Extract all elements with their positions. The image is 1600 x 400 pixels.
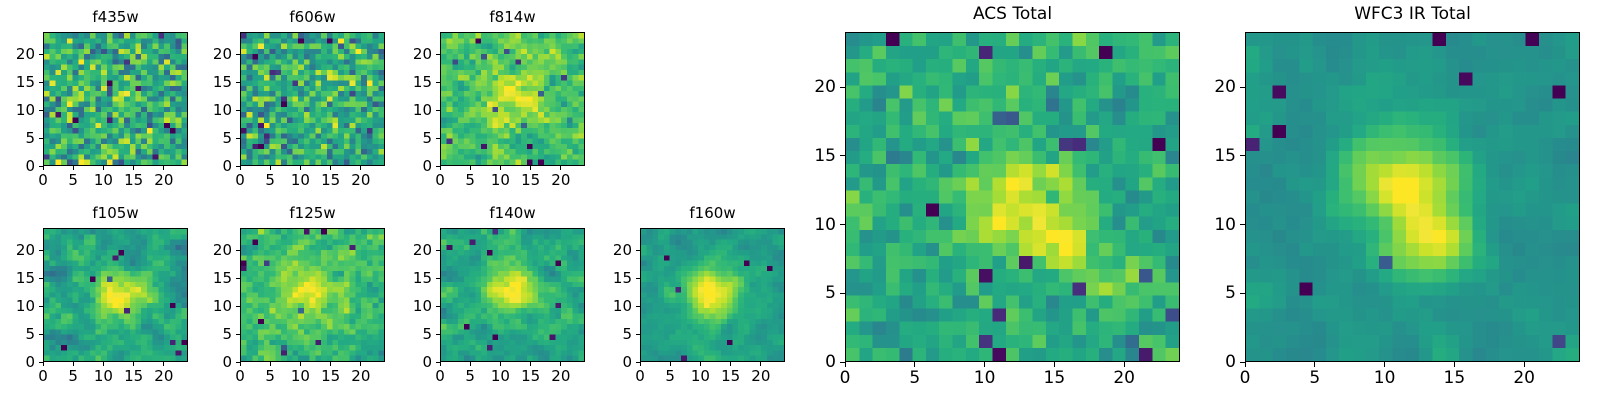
x-tick-wfc3-ir-total-0 xyxy=(1245,362,1246,367)
y-ticklabel-wfc3-ir-total-2: 10 xyxy=(1192,217,1236,234)
x-tick-wfc3-ir-total-4 xyxy=(1524,362,1525,367)
x-ticklabel-f814w-3: 15 xyxy=(511,173,551,188)
y-tick-f606w-2 xyxy=(236,110,240,111)
y-ticklabel-f125w-2: 10 xyxy=(188,299,232,314)
y-tick-f814w-3 xyxy=(436,82,440,83)
x-tick-f435w-4 xyxy=(163,166,164,170)
y-ticklabel-acs-total-1: 5 xyxy=(792,285,836,302)
panel-wfc3-ir-total: WFC3 IR Total0510152005101520 xyxy=(0,0,1600,400)
y-ticklabel-f140w-3: 15 xyxy=(388,271,432,286)
y-tick-wfc3-ir-total-1 xyxy=(1240,293,1245,294)
x-ticklabel-f606w-3: 15 xyxy=(311,173,351,188)
y-ticklabel-f105w-2: 10 xyxy=(0,299,35,314)
y-tick-f105w-1 xyxy=(39,334,43,335)
x-tick-f140w-4 xyxy=(560,362,561,366)
y-ticklabel-wfc3-ir-total-0: 0 xyxy=(1192,354,1236,371)
x-tick-f125w-3 xyxy=(330,362,331,366)
x-tick-wfc3-ir-total-1 xyxy=(1314,362,1315,367)
y-tick-f814w-1 xyxy=(436,138,440,139)
panel-f160w: f160w0510152005101520 xyxy=(0,0,1600,400)
heatmap-f160w xyxy=(640,228,785,362)
y-tick-f125w-2 xyxy=(236,306,240,307)
y-ticklabel-f160w-4: 20 xyxy=(588,243,632,258)
y-ticklabel-f140w-0: 0 xyxy=(388,355,432,370)
panel-title-f125w: f125w xyxy=(240,206,385,221)
y-tick-acs-total-2 xyxy=(840,224,845,225)
x-tick-f140w-0 xyxy=(440,362,441,366)
y-tick-f435w-2 xyxy=(39,110,43,111)
x-ticklabel-f606w-0: 0 xyxy=(220,173,260,188)
y-tick-f105w-2 xyxy=(39,306,43,307)
heatmap-wfc3-ir-total xyxy=(1245,32,1580,362)
y-tick-f160w-4 xyxy=(636,250,640,251)
x-ticklabel-acs-total-2: 10 xyxy=(965,370,1005,387)
y-tick-acs-total-0 xyxy=(840,362,845,363)
y-ticklabel-f105w-3: 15 xyxy=(0,271,35,286)
x-ticklabel-acs-total-1: 5 xyxy=(895,370,935,387)
y-ticklabel-f140w-1: 5 xyxy=(388,327,432,342)
panel-title-acs-total: ACS Total xyxy=(845,6,1180,23)
x-tick-acs-total-1 xyxy=(914,362,915,367)
y-ticklabel-f125w-0: 0 xyxy=(188,355,232,370)
x-ticklabel-f160w-3: 15 xyxy=(711,369,751,384)
y-ticklabel-acs-total-3: 15 xyxy=(792,148,836,165)
x-ticklabel-wfc3-ir-total-1: 5 xyxy=(1295,370,1335,387)
heatmap-f125w xyxy=(240,228,385,362)
y-ticklabel-wfc3-ir-total-1: 5 xyxy=(1192,285,1236,302)
y-tick-acs-total-4 xyxy=(840,87,845,88)
heatmap-image-wfc3-ir-total xyxy=(1246,33,1579,361)
heatmap-image-f105w xyxy=(44,229,187,361)
y-tick-f125w-1 xyxy=(236,334,240,335)
y-ticklabel-f125w-3: 15 xyxy=(188,271,232,286)
y-tick-f105w-0 xyxy=(39,362,43,363)
x-ticklabel-f606w-4: 20 xyxy=(341,173,381,188)
x-tick-f606w-0 xyxy=(240,166,241,170)
x-ticklabel-f105w-4: 20 xyxy=(144,369,184,384)
x-ticklabel-f105w-2: 10 xyxy=(83,369,123,384)
x-tick-f606w-2 xyxy=(300,166,301,170)
x-ticklabel-wfc3-ir-total-0: 0 xyxy=(1225,370,1265,387)
y-tick-wfc3-ir-total-4 xyxy=(1240,87,1245,88)
y-ticklabel-acs-total-2: 10 xyxy=(792,217,836,234)
x-tick-f105w-4 xyxy=(163,362,164,366)
panel-title-f606w: f606w xyxy=(240,10,385,25)
x-ticklabel-f140w-1: 5 xyxy=(450,369,490,384)
y-ticklabel-acs-total-0: 0 xyxy=(792,354,836,371)
x-ticklabel-acs-total-0: 0 xyxy=(825,370,865,387)
y-ticklabel-f606w-2: 10 xyxy=(188,103,232,118)
y-tick-wfc3-ir-total-0 xyxy=(1240,362,1245,363)
heatmap-image-f814w xyxy=(441,33,584,165)
x-tick-f125w-2 xyxy=(300,362,301,366)
y-ticklabel-wfc3-ir-total-4: 20 xyxy=(1192,79,1236,96)
y-ticklabel-f125w-4: 20 xyxy=(188,243,232,258)
x-tick-f814w-2 xyxy=(500,166,501,170)
x-tick-f435w-0 xyxy=(43,166,44,170)
y-ticklabel-f125w-1: 5 xyxy=(188,327,232,342)
x-tick-f814w-1 xyxy=(470,166,471,170)
y-ticklabel-f105w-4: 20 xyxy=(0,243,35,258)
x-ticklabel-f814w-2: 10 xyxy=(480,173,520,188)
x-tick-f105w-1 xyxy=(73,362,74,366)
panel-f606w: f606w0510152005101520 xyxy=(0,0,1600,400)
x-ticklabel-wfc3-ir-total-4: 20 xyxy=(1504,370,1544,387)
x-ticklabel-f140w-0: 0 xyxy=(420,369,460,384)
y-tick-wfc3-ir-total-3 xyxy=(1240,155,1245,156)
y-ticklabel-f606w-4: 20 xyxy=(188,47,232,62)
x-ticklabel-f606w-2: 10 xyxy=(280,173,320,188)
x-tick-wfc3-ir-total-2 xyxy=(1384,362,1385,367)
y-ticklabel-f160w-1: 5 xyxy=(588,327,632,342)
x-ticklabel-f814w-4: 20 xyxy=(541,173,581,188)
heatmap-f435w xyxy=(43,32,188,166)
panel-title-f814w: f814w xyxy=(440,10,585,25)
heatmap-f140w xyxy=(440,228,585,362)
y-ticklabel-f606w-3: 15 xyxy=(188,75,232,90)
x-tick-f814w-3 xyxy=(530,166,531,170)
heatmap-image-f606w xyxy=(241,33,384,165)
heatmap-image-acs-total xyxy=(846,33,1179,361)
y-tick-f435w-1 xyxy=(39,138,43,139)
x-tick-f105w-2 xyxy=(103,362,104,366)
y-ticklabel-f140w-2: 10 xyxy=(388,299,432,314)
x-tick-f814w-4 xyxy=(560,166,561,170)
x-ticklabel-f105w-3: 15 xyxy=(114,369,154,384)
y-ticklabel-f105w-1: 5 xyxy=(0,327,35,342)
y-tick-f606w-4 xyxy=(236,54,240,55)
x-tick-f105w-3 xyxy=(133,362,134,366)
x-tick-f140w-3 xyxy=(530,362,531,366)
heatmap-image-f140w xyxy=(441,229,584,361)
x-tick-f606w-4 xyxy=(360,166,361,170)
x-ticklabel-f125w-4: 20 xyxy=(341,369,381,384)
x-ticklabel-f160w-2: 10 xyxy=(680,369,720,384)
x-ticklabel-wfc3-ir-total-2: 10 xyxy=(1365,370,1405,387)
x-tick-f125w-4 xyxy=(360,362,361,366)
x-tick-f160w-2 xyxy=(700,362,701,366)
y-ticklabel-f814w-0: 0 xyxy=(388,159,432,174)
x-ticklabel-f814w-0: 0 xyxy=(420,173,460,188)
y-tick-f606w-3 xyxy=(236,82,240,83)
x-ticklabel-f125w-3: 15 xyxy=(311,369,351,384)
x-ticklabel-f814w-1: 5 xyxy=(450,173,490,188)
x-ticklabel-f435w-4: 20 xyxy=(144,173,184,188)
y-tick-f125w-0 xyxy=(236,362,240,363)
y-tick-f140w-3 xyxy=(436,278,440,279)
y-tick-f160w-0 xyxy=(636,362,640,363)
y-ticklabel-f140w-4: 20 xyxy=(388,243,432,258)
x-ticklabel-f125w-2: 10 xyxy=(280,369,320,384)
x-ticklabel-f435w-2: 10 xyxy=(83,173,123,188)
y-tick-wfc3-ir-total-2 xyxy=(1240,224,1245,225)
y-tick-f140w-0 xyxy=(436,362,440,363)
y-tick-f105w-4 xyxy=(39,250,43,251)
y-ticklabel-f814w-1: 5 xyxy=(388,131,432,146)
y-tick-f435w-4 xyxy=(39,54,43,55)
x-ticklabel-wfc3-ir-total-3: 15 xyxy=(1434,370,1474,387)
x-ticklabel-f160w-0: 0 xyxy=(620,369,660,384)
x-ticklabel-f140w-3: 15 xyxy=(511,369,551,384)
y-tick-f140w-2 xyxy=(436,306,440,307)
x-ticklabel-f140w-2: 10 xyxy=(480,369,520,384)
x-ticklabel-f606w-1: 5 xyxy=(250,173,290,188)
x-ticklabel-f435w-1: 5 xyxy=(53,173,93,188)
y-ticklabel-acs-total-4: 20 xyxy=(792,79,836,96)
panel-title-f105w: f105w xyxy=(43,206,188,221)
y-tick-f435w-3 xyxy=(39,82,43,83)
panel-title-wfc3-ir-total: WFC3 IR Total xyxy=(1245,6,1580,23)
y-tick-f814w-2 xyxy=(436,110,440,111)
x-tick-f435w-2 xyxy=(103,166,104,170)
y-tick-acs-total-1 xyxy=(840,293,845,294)
y-tick-f140w-1 xyxy=(436,334,440,335)
y-tick-f160w-3 xyxy=(636,278,640,279)
x-ticklabel-acs-total-4: 20 xyxy=(1104,370,1144,387)
panel-f435w: f435w0510152005101520 xyxy=(0,0,1600,400)
y-ticklabel-f606w-0: 0 xyxy=(188,159,232,174)
x-ticklabel-f125w-0: 0 xyxy=(220,369,260,384)
x-ticklabel-f435w-3: 15 xyxy=(114,173,154,188)
heatmap-image-f160w xyxy=(641,229,784,361)
y-ticklabel-f606w-1: 5 xyxy=(188,131,232,146)
x-tick-f140w-2 xyxy=(500,362,501,366)
y-ticklabel-wfc3-ir-total-3: 15 xyxy=(1192,148,1236,165)
heatmap-f105w xyxy=(43,228,188,362)
y-tick-f160w-1 xyxy=(636,334,640,335)
heatmap-f606w xyxy=(240,32,385,166)
y-ticklabel-f814w-3: 15 xyxy=(388,75,432,90)
x-ticklabel-f125w-1: 5 xyxy=(250,369,290,384)
x-tick-f160w-3 xyxy=(730,362,731,366)
x-tick-f814w-0 xyxy=(440,166,441,170)
panel-f140w: f140w0510152005101520 xyxy=(0,0,1600,400)
y-ticklabel-f814w-4: 20 xyxy=(388,47,432,62)
heatmap-f814w xyxy=(440,32,585,166)
y-tick-f160w-2 xyxy=(636,306,640,307)
y-ticklabel-f435w-3: 15 xyxy=(0,75,35,90)
panel-f814w: f814w0510152005101520 xyxy=(0,0,1600,400)
heatmap-image-f125w xyxy=(241,229,384,361)
y-ticklabel-f435w-1: 5 xyxy=(0,131,35,146)
x-tick-acs-total-2 xyxy=(984,362,985,367)
y-ticklabel-f435w-4: 20 xyxy=(0,47,35,62)
x-tick-acs-total-4 xyxy=(1124,362,1125,367)
heatmap-image-f435w xyxy=(44,33,187,165)
y-ticklabel-f435w-0: 0 xyxy=(0,159,35,174)
x-tick-acs-total-3 xyxy=(1054,362,1055,367)
y-ticklabel-f814w-2: 10 xyxy=(388,103,432,118)
x-tick-f105w-0 xyxy=(43,362,44,366)
x-ticklabel-f105w-1: 5 xyxy=(53,369,93,384)
x-tick-wfc3-ir-total-3 xyxy=(1454,362,1455,367)
x-tick-f160w-1 xyxy=(670,362,671,366)
panel-title-f160w: f160w xyxy=(640,206,785,221)
x-tick-f125w-0 xyxy=(240,362,241,366)
y-ticklabel-f105w-0: 0 xyxy=(0,355,35,370)
panel-title-f435w: f435w xyxy=(43,10,188,25)
y-ticklabel-f435w-2: 10 xyxy=(0,103,35,118)
x-tick-f435w-3 xyxy=(133,166,134,170)
y-tick-f125w-4 xyxy=(236,250,240,251)
x-ticklabel-acs-total-3: 15 xyxy=(1034,370,1074,387)
x-ticklabel-f435w-0: 0 xyxy=(23,173,63,188)
y-tick-f105w-3 xyxy=(39,278,43,279)
y-ticklabel-f160w-0: 0 xyxy=(588,355,632,370)
x-tick-f435w-1 xyxy=(73,166,74,170)
x-tick-f125w-1 xyxy=(270,362,271,366)
x-tick-f140w-1 xyxy=(470,362,471,366)
x-tick-f160w-4 xyxy=(760,362,761,366)
y-ticklabel-f160w-3: 15 xyxy=(588,271,632,286)
x-ticklabel-f140w-4: 20 xyxy=(541,369,581,384)
heatmap-acs-total xyxy=(845,32,1180,362)
x-tick-f606w-1 xyxy=(270,166,271,170)
y-tick-f435w-0 xyxy=(39,166,43,167)
figure-canvas: f435w0510152005101520f606w05101520051015… xyxy=(0,0,1600,400)
panel-f105w: f105w0510152005101520 xyxy=(0,0,1600,400)
y-tick-f814w-4 xyxy=(436,54,440,55)
y-tick-acs-total-3 xyxy=(840,155,845,156)
panel-f125w: f125w0510152005101520 xyxy=(0,0,1600,400)
y-tick-f125w-3 xyxy=(236,278,240,279)
y-tick-f814w-0 xyxy=(436,166,440,167)
y-ticklabel-f160w-2: 10 xyxy=(588,299,632,314)
y-tick-f606w-0 xyxy=(236,166,240,167)
x-tick-acs-total-0 xyxy=(845,362,846,367)
y-tick-f140w-4 xyxy=(436,250,440,251)
panel-title-f140w: f140w xyxy=(440,206,585,221)
x-ticklabel-f160w-4: 20 xyxy=(741,369,781,384)
panel-acs-total: ACS Total0510152005101520 xyxy=(0,0,1600,400)
x-tick-f606w-3 xyxy=(330,166,331,170)
x-ticklabel-f105w-0: 0 xyxy=(23,369,63,384)
x-tick-f160w-0 xyxy=(640,362,641,366)
x-ticklabel-f160w-1: 5 xyxy=(650,369,690,384)
y-tick-f606w-1 xyxy=(236,138,240,139)
